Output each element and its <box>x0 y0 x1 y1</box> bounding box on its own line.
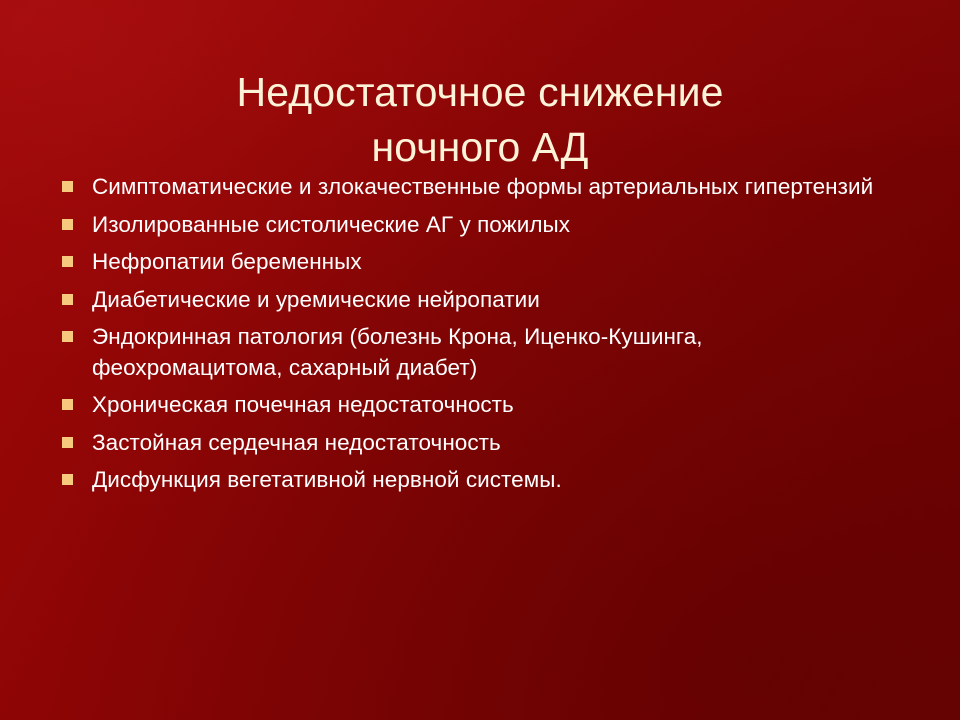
square-bullet-icon <box>62 437 73 448</box>
list-item: Дисфункция вегетативной нервной системы. <box>62 465 892 496</box>
list-item-label: Симптоматические и злокачественные формы… <box>92 172 892 203</box>
list-item-label: Эндокринная патология (болезнь Крона, Иц… <box>92 322 892 383</box>
list-item: Диабетические и уремические нейропатии <box>62 285 892 316</box>
list-item: Застойная сердечная недостаточность <box>62 428 892 459</box>
list-item-label: Диабетические и уремические нейропатии <box>92 285 892 316</box>
square-bullet-icon <box>62 294 73 305</box>
list-item-label: Застойная сердечная недостаточность <box>92 428 892 459</box>
square-bullet-icon <box>62 219 73 230</box>
list-item: Нефропатии беременных <box>62 247 892 278</box>
list-item-label: Хроническая почечная недостаточность <box>92 390 892 421</box>
list-item: Эндокринная патология (болезнь Крона, Иц… <box>62 322 892 383</box>
list-item-label: Изолированные систолические АГ у пожилых <box>92 210 892 241</box>
list-item: Симптоматические и злокачественные формы… <box>62 172 892 203</box>
list-item-label: Нефропатии беременных <box>92 247 892 278</box>
list-item: Хроническая почечная недостаточность <box>62 390 892 421</box>
square-bullet-icon <box>62 474 73 485</box>
square-bullet-icon <box>62 331 73 342</box>
square-bullet-icon <box>62 256 73 267</box>
slide-content: Недостаточное снижение ночного АД Симпто… <box>0 0 960 720</box>
list-item-label: Дисфункция вегетативной нервной системы. <box>92 465 892 496</box>
square-bullet-icon <box>62 399 73 410</box>
slide-title: Недостаточное снижение ночного АД <box>60 65 900 175</box>
presentation-slide: Недостаточное снижение ночного АД Симпто… <box>0 0 960 720</box>
square-bullet-icon <box>62 181 73 192</box>
bullet-list: Симптоматические и злокачественные формы… <box>62 172 892 503</box>
list-item: Изолированные систолические АГ у пожилых <box>62 210 892 241</box>
